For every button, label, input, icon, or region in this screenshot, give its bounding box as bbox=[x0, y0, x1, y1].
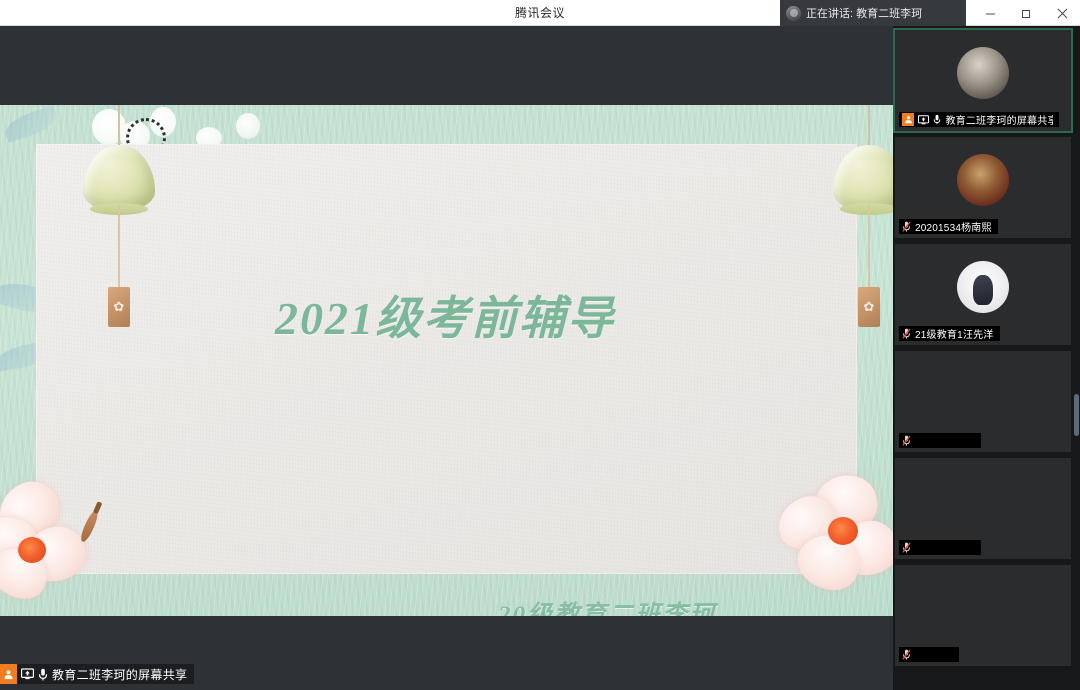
minimize-button[interactable] bbox=[972, 0, 1008, 26]
blossom-icon bbox=[236, 113, 260, 139]
presentation-slide: 2021级考前辅导 20级教育二班李珂 bbox=[0, 105, 893, 616]
slide-card bbox=[36, 144, 857, 574]
avatar bbox=[957, 154, 1009, 206]
screen-share-icon bbox=[21, 668, 34, 680]
close-button[interactable] bbox=[1044, 0, 1080, 26]
slide-subtitle: 20级教育二班李珂 bbox=[498, 600, 798, 616]
microphone-muted-icon bbox=[902, 221, 911, 232]
active-speaker-avatar bbox=[786, 6, 801, 21]
participant-tile[interactable]: 21级教育1汪先洋 bbox=[895, 244, 1071, 345]
wind-chime-cord bbox=[868, 105, 870, 149]
avatar bbox=[957, 47, 1009, 99]
avatar bbox=[957, 261, 1009, 313]
host-person-icon bbox=[902, 113, 914, 126]
screen-share-status-label: 教育二班李珂的屏幕共享 bbox=[52, 666, 187, 683]
screen-share-icon bbox=[918, 115, 929, 125]
microphone-icon bbox=[933, 114, 941, 125]
wind-chime-cord bbox=[118, 105, 120, 149]
wind-chime-bell bbox=[83, 145, 155, 211]
flower-bottom-right-icon bbox=[776, 473, 893, 597]
wind-chime-left-icon bbox=[83, 105, 155, 335]
active-speaker-indicator[interactable]: 正在讲话: 教育二班李珂 bbox=[780, 0, 966, 26]
flower-core bbox=[828, 517, 858, 545]
rail-scrollbar-thumb[interactable] bbox=[1074, 394, 1079, 436]
participant-name: 20201534杨南熙 bbox=[915, 219, 992, 234]
wind-chime-right-icon bbox=[833, 105, 893, 335]
participant-name: 教育二班李珂的屏幕共享 bbox=[945, 112, 1053, 127]
title-bar: 腾讯会议 正在讲话: 教育二班李珂 bbox=[0, 0, 1080, 26]
host-person-icon bbox=[0, 664, 17, 684]
active-speaker-label: 正在讲话: 教育二班李珂 bbox=[806, 5, 922, 21]
shared-screen-stage[interactable]: 2021级考前辅导 20级教育二班李珂 bbox=[0, 26, 893, 690]
rail-scrollbar[interactable] bbox=[1074, 26, 1080, 690]
wind-chime-clapper bbox=[118, 205, 120, 291]
microphone-muted-icon bbox=[902, 542, 911, 553]
participant-name: 21级教育1汪先洋 bbox=[915, 326, 994, 341]
participant-footer bbox=[899, 647, 959, 662]
participant-tile[interactable] bbox=[895, 351, 1071, 452]
restore-button[interactable] bbox=[1008, 0, 1044, 26]
wind-chime-tag bbox=[858, 287, 880, 327]
participant-tile[interactable] bbox=[895, 458, 1071, 559]
microphone-muted-icon bbox=[902, 649, 911, 660]
participant-tile[interactable]: 20201534杨南熙 bbox=[895, 137, 1071, 238]
participant-footer bbox=[899, 540, 981, 555]
speaker-chip-fade bbox=[940, 0, 966, 26]
microphone-muted-icon bbox=[902, 435, 911, 446]
window-controls bbox=[972, 0, 1080, 26]
tencent-meeting-window: 腾讯会议 正在讲话: 教育二班李珂 bbox=[0, 0, 1080, 690]
slide-title: 2021级考前辅导 bbox=[275, 291, 695, 347]
flower-core bbox=[18, 537, 46, 563]
participant-footer bbox=[899, 433, 981, 448]
wind-chime-bell bbox=[833, 145, 893, 211]
participant-footer: 21级教育1汪先洋 bbox=[899, 326, 1000, 341]
screen-share-status-badge: 教育二班李珂的屏幕共享 bbox=[0, 664, 194, 684]
wind-chime-clapper bbox=[868, 205, 870, 291]
participant-footer: 教育二班李珂的屏幕共享 bbox=[899, 112, 1059, 127]
wind-chime-tag bbox=[108, 287, 130, 327]
participant-footer: 20201534杨南熙 bbox=[899, 219, 998, 234]
participant-tile[interactable]: 教育二班李珂的屏幕共享 bbox=[895, 30, 1071, 131]
microphone-icon bbox=[38, 668, 48, 681]
participant-tile[interactable] bbox=[895, 565, 1071, 666]
microphone-muted-icon bbox=[902, 328, 911, 339]
participant-video-rail[interactable]: 教育二班李珂的屏幕共享 20201534杨南熙 bbox=[893, 26, 1080, 690]
